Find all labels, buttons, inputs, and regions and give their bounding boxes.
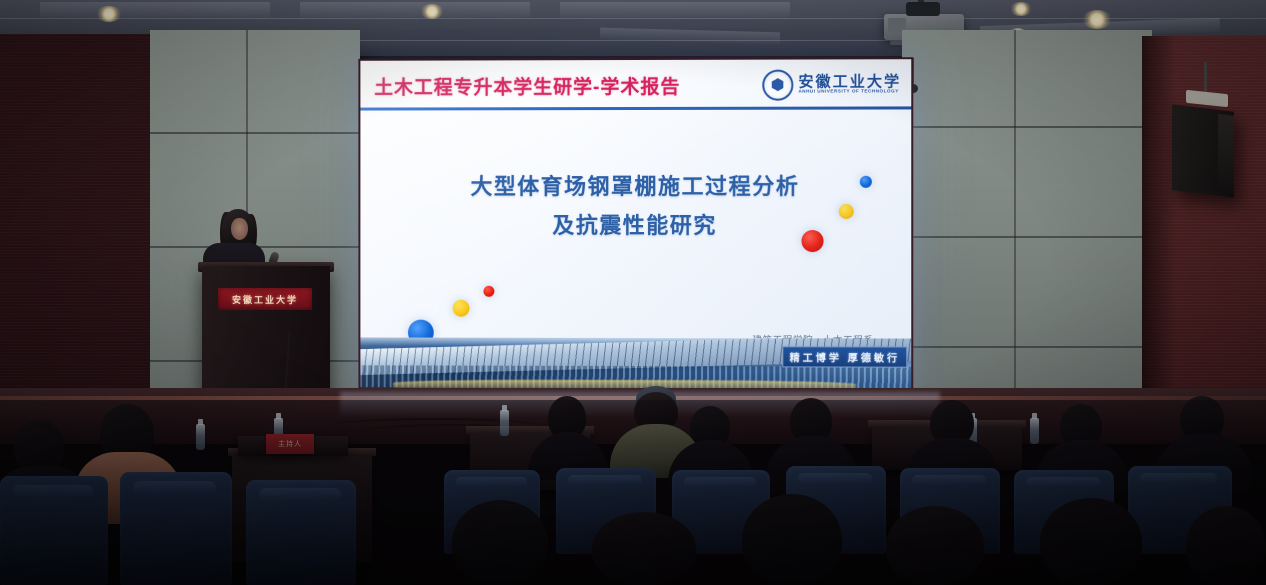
ceiling-panel bbox=[40, 2, 270, 18]
right-acoustic-wall bbox=[902, 30, 1152, 430]
projector-bracket bbox=[906, 2, 940, 16]
water-bottle bbox=[196, 424, 205, 450]
auditorium-seat[interactable] bbox=[120, 472, 232, 585]
podium-plaque: 安徽工业大学 bbox=[218, 288, 312, 310]
name-card-text: 主持人 bbox=[278, 439, 302, 449]
audience-head bbox=[1040, 498, 1142, 585]
slide-header: 土木工程专升本学生研学-学术报告 安徽工业大学 ANHUI UNIVERSITY… bbox=[360, 59, 911, 110]
decor-dot-yellow bbox=[839, 204, 854, 219]
decor-dot-yellow bbox=[453, 300, 470, 317]
audience-head bbox=[886, 506, 984, 585]
auditorium-seat[interactable] bbox=[0, 476, 108, 585]
slide-title: 大型体育场钢罩棚施工过程分析 及抗震性能研究 bbox=[360, 168, 911, 245]
motto-banner: 精工博学 厚德敏行 bbox=[783, 346, 908, 367]
speaker-mount-stem bbox=[1204, 62, 1207, 94]
presentation-slide: 土木工程专升本学生研学-学术报告 安徽工业大学 ANHUI UNIVERSITY… bbox=[360, 59, 911, 391]
logo-name-cn: 安徽工业大学 bbox=[798, 74, 901, 90]
auditorium-seat[interactable] bbox=[246, 480, 356, 585]
slide-body: 大型体育场钢罩棚施工过程分析 及抗震性能研究 建筑工程学院 土木工程系 bbox=[360, 109, 911, 390]
water-bottle bbox=[1030, 418, 1039, 444]
decor-dot-red bbox=[801, 230, 823, 252]
university-logo: 安徽工业大学 ANHUI UNIVERSITY OF TECHNOLOGY bbox=[762, 69, 903, 100]
slide-title-line1: 大型体育场钢罩棚施工过程分析 bbox=[360, 168, 911, 207]
downlight bbox=[1082, 10, 1112, 29]
name-card: 主持人 bbox=[266, 434, 314, 454]
lecture-hall-scene: 土木工程专升本学生研学-学术报告 安徽工业大学 ANHUI UNIVERSITY… bbox=[0, 0, 1266, 585]
downlight bbox=[96, 6, 122, 22]
presenter-face bbox=[231, 218, 248, 240]
audience-head bbox=[1186, 506, 1266, 585]
left-wall-panel bbox=[0, 34, 152, 434]
downlight bbox=[1010, 2, 1032, 16]
logo-name-en: ANHUI UNIVERSITY OF TECHNOLOGY bbox=[798, 90, 901, 95]
hexagon-emblem-icon bbox=[762, 69, 793, 100]
wall-speaker-icon bbox=[1172, 104, 1234, 198]
decor-dot-blue bbox=[860, 176, 872, 188]
podium-plaque-text: 安徽工业大学 bbox=[232, 293, 298, 306]
slide-title-line2: 及抗震性能研究 bbox=[360, 206, 911, 245]
projection-screen: 土木工程专升本学生研学-学术报告 安徽工业大学 ANHUI UNIVERSITY… bbox=[358, 57, 913, 393]
audience-head bbox=[452, 500, 548, 585]
decor-dot-red bbox=[483, 286, 494, 297]
ceiling-panel bbox=[560, 2, 790, 18]
right-wall-shadow bbox=[1142, 36, 1176, 416]
audience-head bbox=[742, 494, 842, 585]
slide-header-title: 土木工程专升本学生研学-学术报告 bbox=[374, 71, 680, 99]
downlight bbox=[420, 4, 444, 19]
water-bottle bbox=[500, 410, 509, 436]
ceiling-seam bbox=[0, 18, 1266, 19]
audience-head bbox=[592, 512, 696, 585]
stadium-photo: 精工博学 厚德敏行 bbox=[360, 337, 911, 390]
ceiling-panel bbox=[300, 2, 530, 18]
